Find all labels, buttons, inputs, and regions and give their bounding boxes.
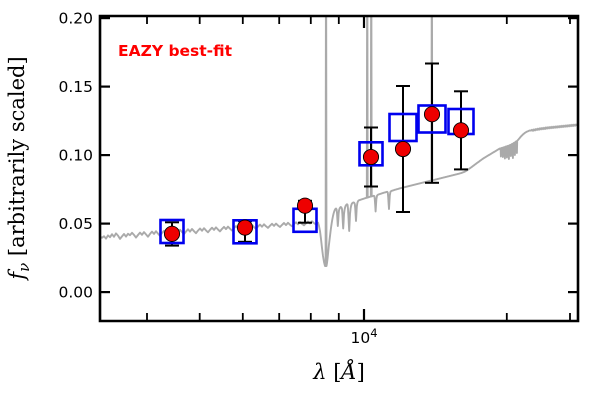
x-tick-label-1e4: 104 [350,326,377,347]
data-point-group-7[interactable] [449,91,474,169]
svg-text:fν [arbitrarily scaled]: fν [arbitrarily scaled] [5,56,33,281]
data-point-group-3[interactable] [294,198,317,232]
observed-point-5 [395,141,410,156]
y-tick-label-4: 0.00 [58,284,93,302]
x-axis-ticks [147,16,570,321]
observed-point-3 [297,198,312,213]
observed-point-2 [237,220,252,235]
y-tick-label-1: 0.15 [58,78,93,96]
y-tick-label-0: 0.20 [58,10,93,28]
y-tick-labels: 0.20 0.15 0.10 0.05 0.00 [58,10,93,302]
y-tick-label-2: 0.10 [58,147,93,165]
axes-spines [100,16,578,321]
svg-text:λ [Å]: λ [Å] [312,359,365,384]
x-tick-labels: 104 [350,326,377,347]
figure-canvas: 0.20 0.15 0.10 0.05 0.00 [0,0,600,400]
y-axis-title: fν [arbitrarily scaled] [5,56,33,281]
data-point-group-4[interactable] [360,128,383,187]
data-point-group-6[interactable] [419,64,446,183]
observed-point-1 [164,226,179,241]
observed-point-6 [424,107,439,122]
data-point-group-5[interactable] [390,86,417,212]
annotation-eazy-best-fit: EAZY best-fit [118,42,233,60]
observed-point-4 [363,149,378,164]
x-axis-title: λ [Å] [312,359,365,384]
plot-svg: 0.20 0.15 0.10 0.05 0.00 [0,0,600,400]
data-point-group-1[interactable] [161,220,184,246]
y-tick-label-3: 0.05 [58,215,93,233]
observed-point-7 [453,123,468,138]
data-point-group-2[interactable] [234,220,257,243]
